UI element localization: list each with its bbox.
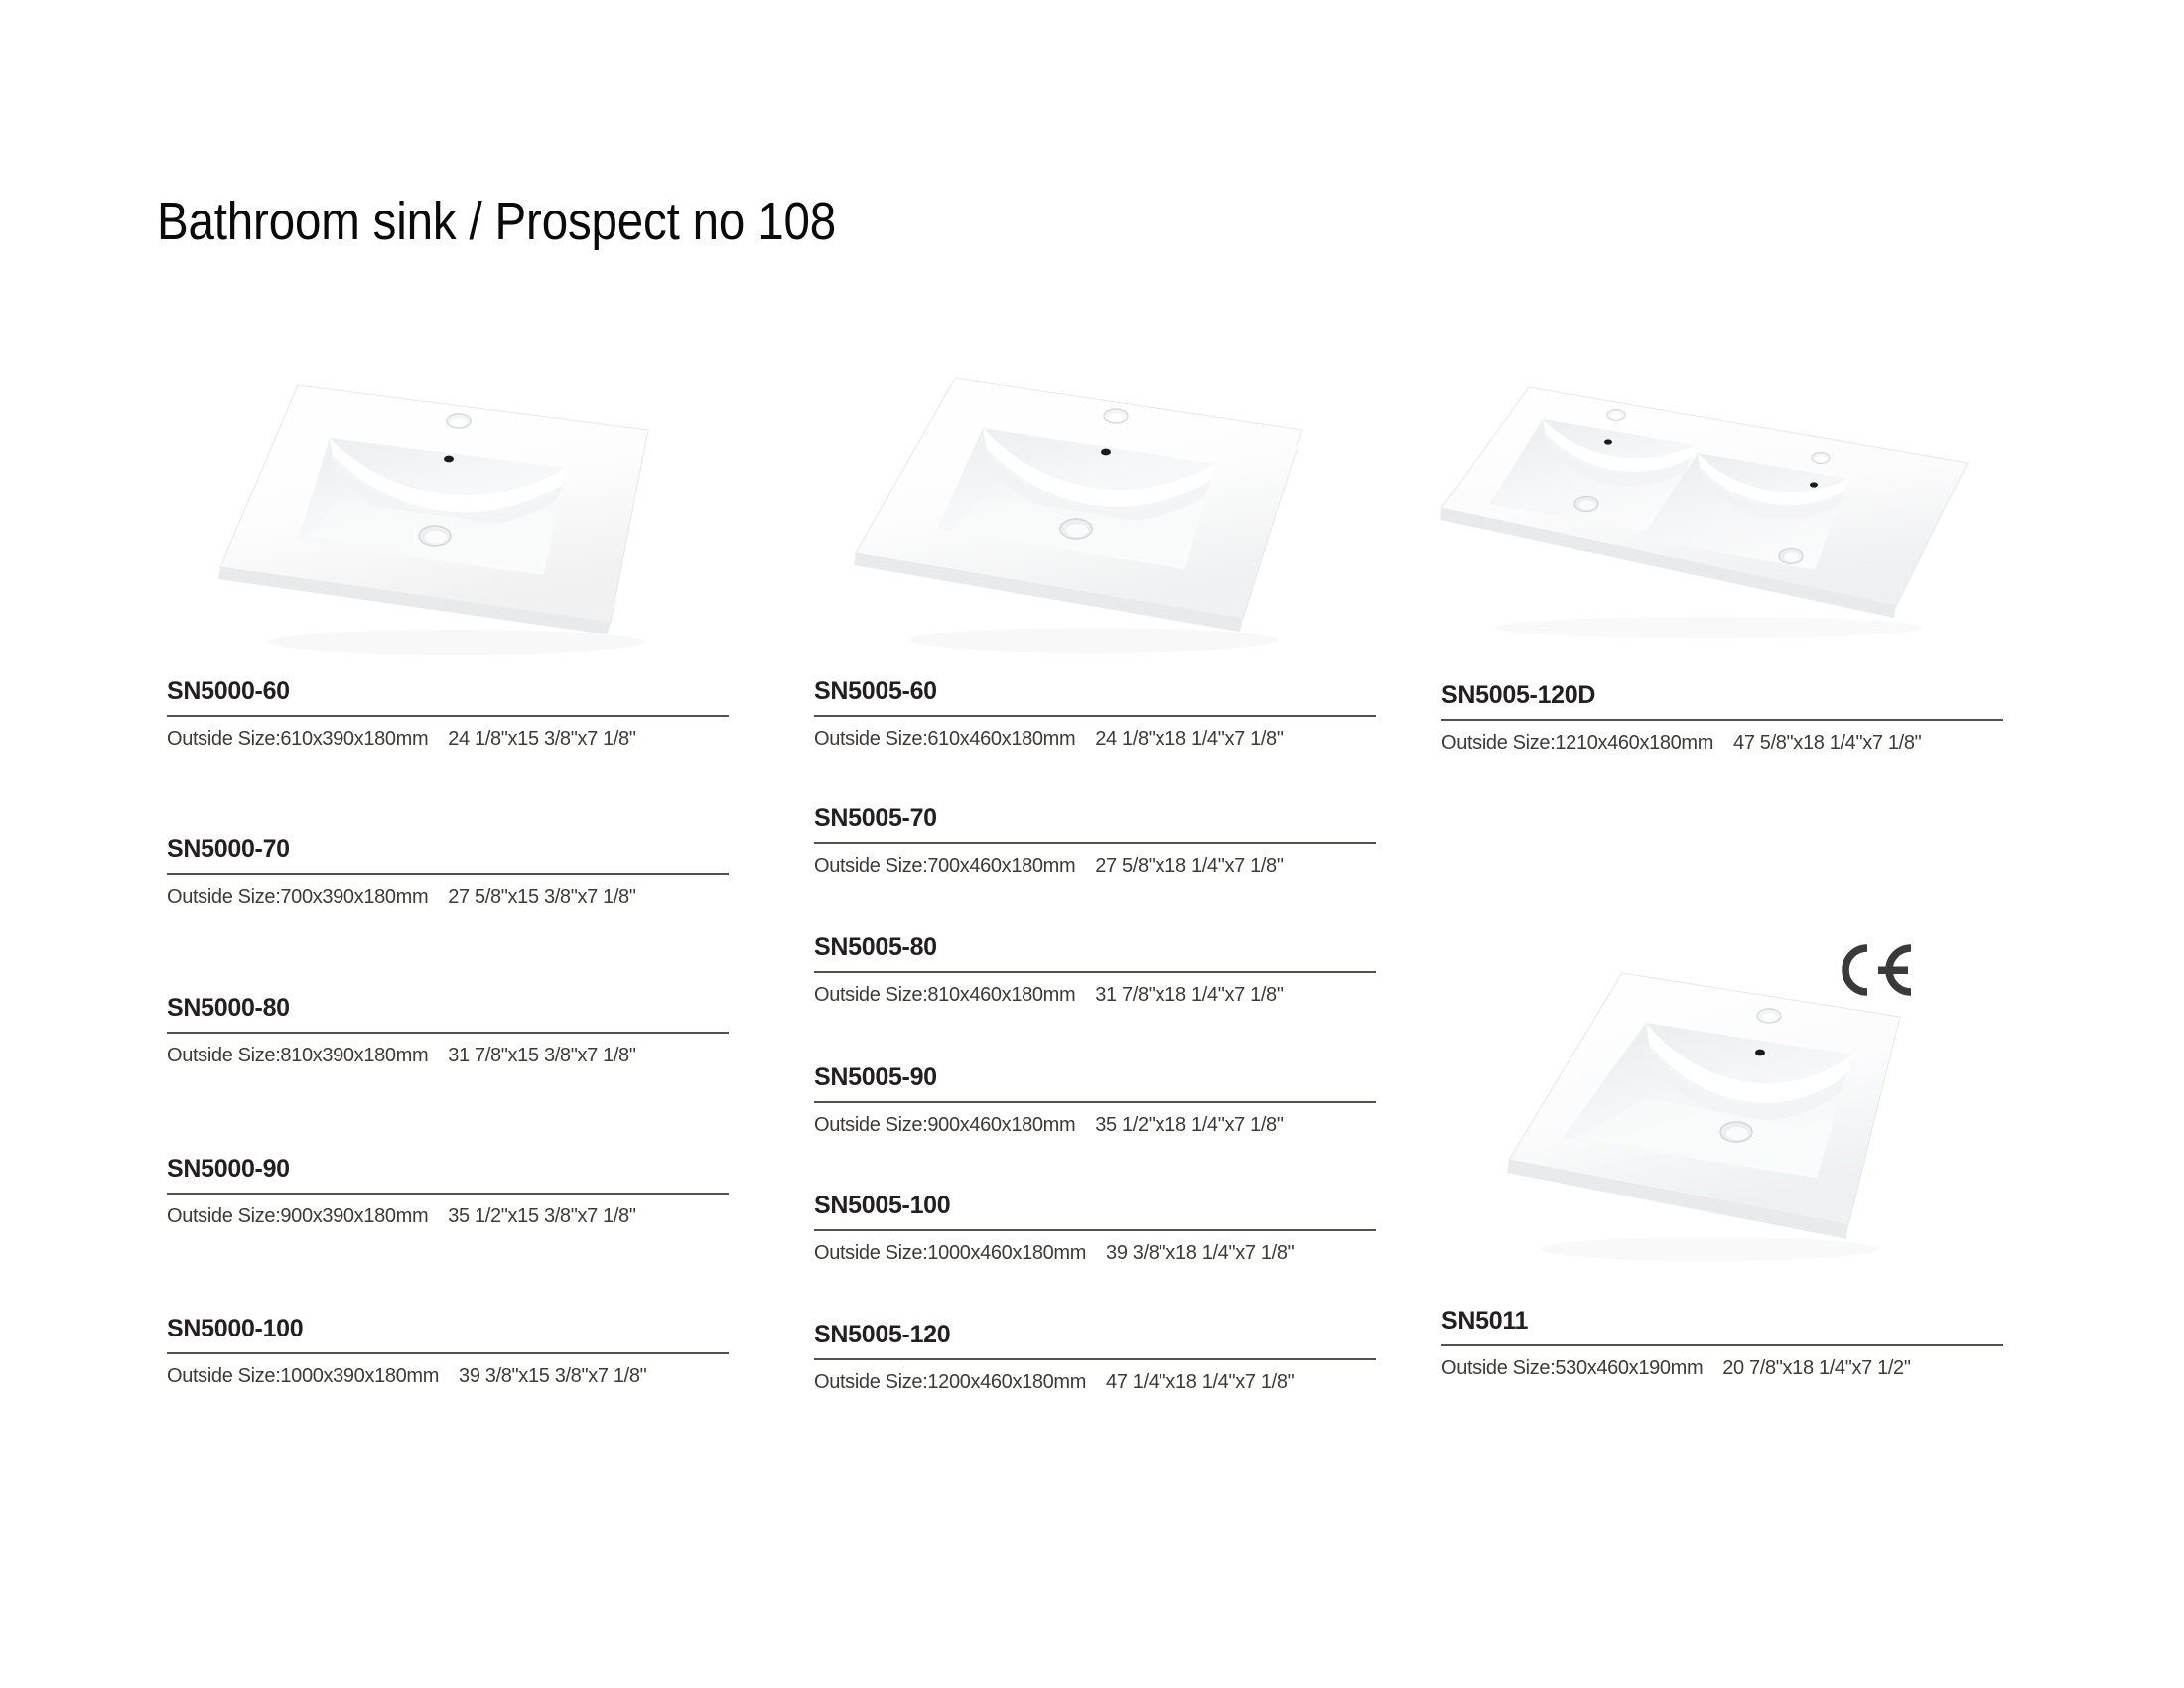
spec-row: Outside Size:900x460x180mm 35 1/2"x18 1/… bbox=[814, 1114, 1376, 1137]
product-model: SN5005-70 bbox=[814, 806, 1376, 831]
spec-metric: Outside Size:1200x460x180mm bbox=[814, 1371, 1086, 1394]
product-model: SN5000-60 bbox=[167, 679, 729, 704]
spec-divider bbox=[814, 842, 1376, 844]
spec-divider bbox=[167, 715, 729, 717]
spec-row: Outside Size:1210x460x180mm 47 5/8"x18 1… bbox=[1441, 732, 2003, 755]
product-spec-block: SN5000-80 Outside Size:810x390x180mm 31 … bbox=[167, 996, 729, 1067]
spec-divider bbox=[814, 1229, 1376, 1231]
product-spec-block: SN5005-70 Outside Size:700x460x180mm 27 … bbox=[814, 806, 1376, 878]
spec-row: Outside Size:810x390x180mm 31 7/8"x15 3/… bbox=[167, 1045, 729, 1067]
sink-photo-sn5005-120d bbox=[1432, 357, 2002, 655]
spec-imperial: 35 1/2"x15 3/8"x7 1/8" bbox=[448, 1205, 635, 1228]
spec-row: Outside Size:700x390x180mm 27 5/8"x15 3/… bbox=[167, 886, 729, 909]
spec-divider bbox=[814, 1358, 1376, 1360]
spec-metric: Outside Size:700x460x180mm bbox=[814, 855, 1075, 878]
spec-imperial: 47 1/4"x18 1/4"x7 1/8" bbox=[1106, 1371, 1294, 1394]
product-spec-block: SN5000-90 Outside Size:900x390x180mm 35 … bbox=[167, 1157, 729, 1228]
spec-row: Outside Size:900x390x180mm 35 1/2"x15 3/… bbox=[167, 1205, 729, 1228]
product-spec-block: SN5005-90 Outside Size:900x460x180mm 35 … bbox=[814, 1065, 1376, 1137]
spec-divider bbox=[1441, 719, 2003, 721]
product-model: SN5011 bbox=[1441, 1309, 2003, 1334]
spec-metric: Outside Size:1210x460x180mm bbox=[1441, 732, 1713, 755]
spec-imperial: 27 5/8"x18 1/4"x7 1/8" bbox=[1095, 855, 1283, 878]
product-model: SN5005-120 bbox=[814, 1323, 1376, 1347]
product-spec-block: SN5005-100 Outside Size:1000x460x180mm 3… bbox=[814, 1194, 1376, 1265]
spec-metric: Outside Size:900x460x180mm bbox=[814, 1114, 1075, 1137]
spec-metric: Outside Size:700x390x180mm bbox=[167, 886, 428, 909]
spec-imperial: 31 7/8"x18 1/4"x7 1/8" bbox=[1095, 984, 1283, 1007]
spec-metric: Outside Size:610x460x180mm bbox=[814, 728, 1075, 751]
product-spec-block: SN5000-100 Outside Size:1000x390x180mm 3… bbox=[167, 1317, 729, 1388]
spec-imperial: 24 1/8"x15 3/8"x7 1/8" bbox=[448, 728, 635, 751]
spec-imperial: 20 7/8"x18 1/4"x7 1/2" bbox=[1722, 1357, 1910, 1380]
sink-photo-sn5000 bbox=[159, 352, 730, 670]
spec-imperial: 24 1/8"x18 1/4"x7 1/8" bbox=[1095, 728, 1283, 751]
product-spec-block: SN5005-60 Outside Size:610x460x180mm 24 … bbox=[814, 679, 1376, 751]
spec-imperial: 39 3/8"x18 1/4"x7 1/8" bbox=[1106, 1242, 1294, 1265]
product-spec-block: SN5005-80 Outside Size:810x460x180mm 31 … bbox=[814, 935, 1376, 1007]
spec-divider bbox=[167, 1032, 729, 1034]
product-spec-block: SN5000-70 Outside Size:700x390x180mm 27 … bbox=[167, 837, 729, 909]
spec-divider bbox=[814, 971, 1376, 973]
sink-photo-sn5005 bbox=[806, 352, 1362, 670]
spec-metric: Outside Size:900x390x180mm bbox=[167, 1205, 428, 1228]
spec-row: Outside Size:530x460x190mm 20 7/8"x18 1/… bbox=[1441, 1357, 2003, 1380]
spec-divider bbox=[814, 1101, 1376, 1103]
spec-metric: Outside Size:1000x390x180mm bbox=[167, 1365, 439, 1388]
product-model: SN5000-70 bbox=[167, 837, 729, 862]
spec-imperial: 47 5/8"x18 1/4"x7 1/8" bbox=[1733, 732, 1921, 755]
spec-row: Outside Size:1000x460x180mm 39 3/8"x18 1… bbox=[814, 1242, 1376, 1265]
spec-row: Outside Size:610x460x180mm 24 1/8"x18 1/… bbox=[814, 728, 1376, 751]
product-spec-block: SN5000-60 Outside Size:610x390x180mm 24 … bbox=[167, 679, 729, 751]
product-spec-block: SN5005-120D Outside Size:1210x460x180mm … bbox=[1441, 683, 2003, 755]
spec-row: Outside Size:610x390x180mm 24 1/8"x15 3/… bbox=[167, 728, 729, 751]
spec-divider bbox=[814, 715, 1376, 717]
product-spec-block: SN5011 Outside Size:530x460x190mm 20 7/8… bbox=[1441, 1309, 2003, 1380]
spec-divider bbox=[167, 1193, 729, 1195]
product-model: SN5005-80 bbox=[814, 935, 1376, 960]
spec-imperial: 35 1/2"x18 1/4"x7 1/8" bbox=[1095, 1114, 1283, 1137]
spec-metric: Outside Size:610x390x180mm bbox=[167, 728, 428, 751]
product-model: SN5005-120D bbox=[1441, 683, 2003, 708]
spec-row: Outside Size:700x460x180mm 27 5/8"x18 1/… bbox=[814, 855, 1376, 878]
ce-mark-icon bbox=[1832, 939, 1916, 1001]
product-model: SN5000-90 bbox=[167, 1157, 729, 1182]
spec-row: Outside Size:1000x390x180mm 39 3/8"x15 3… bbox=[167, 1365, 729, 1388]
product-model: SN5000-80 bbox=[167, 996, 729, 1021]
spec-metric: Outside Size:1000x460x180mm bbox=[814, 1242, 1086, 1265]
spec-row: Outside Size:1200x460x180mm 47 1/4"x18 1… bbox=[814, 1371, 1376, 1394]
spec-imperial: 31 7/8"x15 3/8"x7 1/8" bbox=[448, 1045, 635, 1067]
page-title: Bathroom sink / Prospect no 108 bbox=[157, 191, 836, 252]
spec-metric: Outside Size:530x460x190mm bbox=[1441, 1357, 1703, 1380]
spec-divider bbox=[167, 1352, 729, 1354]
product-model: SN5005-60 bbox=[814, 679, 1376, 704]
product-model: SN5005-100 bbox=[814, 1194, 1376, 1218]
spec-metric: Outside Size:810x390x180mm bbox=[167, 1045, 428, 1067]
product-model: SN5005-90 bbox=[814, 1065, 1376, 1090]
spec-imperial: 39 3/8"x15 3/8"x7 1/8" bbox=[459, 1365, 646, 1388]
spec-divider bbox=[1441, 1344, 2003, 1346]
spec-row: Outside Size:810x460x180mm 31 7/8"x18 1/… bbox=[814, 984, 1376, 1007]
spec-divider bbox=[167, 873, 729, 875]
spec-metric: Outside Size:810x460x180mm bbox=[814, 984, 1075, 1007]
product-spec-block: SN5005-120 Outside Size:1200x460x180mm 4… bbox=[814, 1323, 1376, 1394]
product-model: SN5000-100 bbox=[167, 1317, 729, 1341]
spec-imperial: 27 5/8"x15 3/8"x7 1/8" bbox=[448, 886, 635, 909]
